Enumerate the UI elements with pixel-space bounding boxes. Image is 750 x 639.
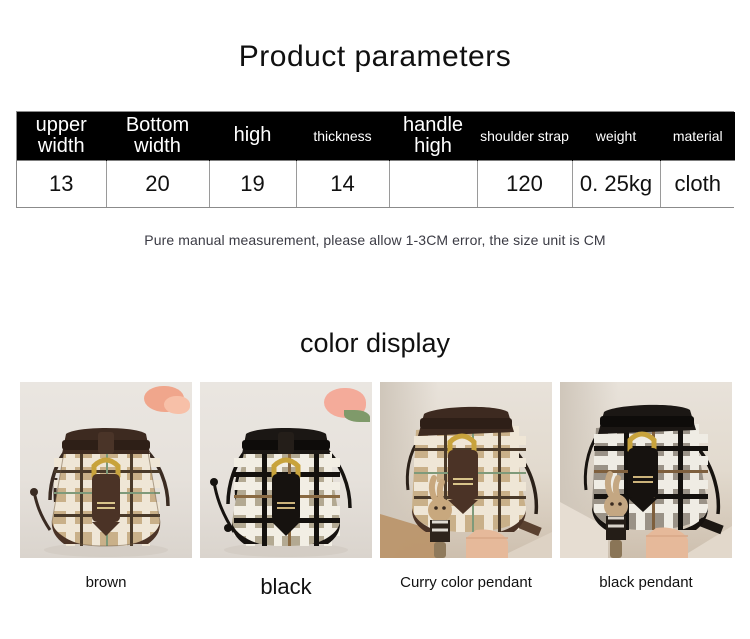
product-photo-brown[interactable] <box>20 382 192 558</box>
gallery-item[interactable]: black pendant <box>560 382 732 600</box>
gallery-item[interactable]: black <box>200 382 372 600</box>
table-header-handle-high: handle high <box>389 112 477 161</box>
table-header-shoulder-strap: shoulder strap <box>477 112 572 161</box>
color-display-gallery: brown <box>20 382 734 600</box>
bucket-bag-illustration <box>560 382 732 558</box>
table-cell-bottom-width: 20 <box>106 161 209 208</box>
section-title-color-display: color display <box>0 328 750 359</box>
product-parameters-table: upper width Bottom width high thickness … <box>16 111 734 208</box>
gallery-item[interactable]: brown <box>20 382 192 600</box>
table-cell-thickness: 14 <box>296 161 389 208</box>
table-header-material: material <box>660 112 735 161</box>
table-header-bottom-width: Bottom width <box>106 112 209 161</box>
gallery-caption: Curry color pendant <box>380 558 552 591</box>
bucket-bag-illustration <box>20 382 192 558</box>
table-row: 13 20 19 14 120 0. 25kg cloth <box>17 161 735 208</box>
table-cell-shoulder-strap: 120 <box>477 161 572 208</box>
page-title: Product parameters <box>0 0 750 72</box>
product-photo-curry-pendant[interactable] <box>380 382 552 558</box>
product-photo-black[interactable] <box>200 382 372 558</box>
product-photo-black-pendant[interactable] <box>560 382 732 558</box>
measurement-note: Pure manual measurement, please allow 1-… <box>0 232 750 248</box>
table-cell-material: cloth <box>660 161 735 208</box>
gallery-item[interactable]: Curry color pendant <box>380 382 552 600</box>
bucket-bag-illustration <box>380 382 552 558</box>
table-cell-high: 19 <box>209 161 296 208</box>
bucket-bag-illustration <box>200 382 372 558</box>
gallery-caption: brown <box>20 558 192 591</box>
table-cell-handle-high <box>389 161 477 208</box>
table-header-upper-width: upper width <box>17 112 106 161</box>
gallery-caption: black pendant <box>560 558 732 591</box>
table-cell-weight: 0. 25kg <box>572 161 660 208</box>
table-header-thickness: thickness <box>296 112 389 161</box>
gallery-caption: black <box>200 558 372 600</box>
table-cell-upper-width: 13 <box>17 161 106 208</box>
table-header-weight: weight <box>572 112 660 161</box>
table-header-row: upper width Bottom width high thickness … <box>17 112 735 161</box>
table-header-high: high <box>209 112 296 161</box>
